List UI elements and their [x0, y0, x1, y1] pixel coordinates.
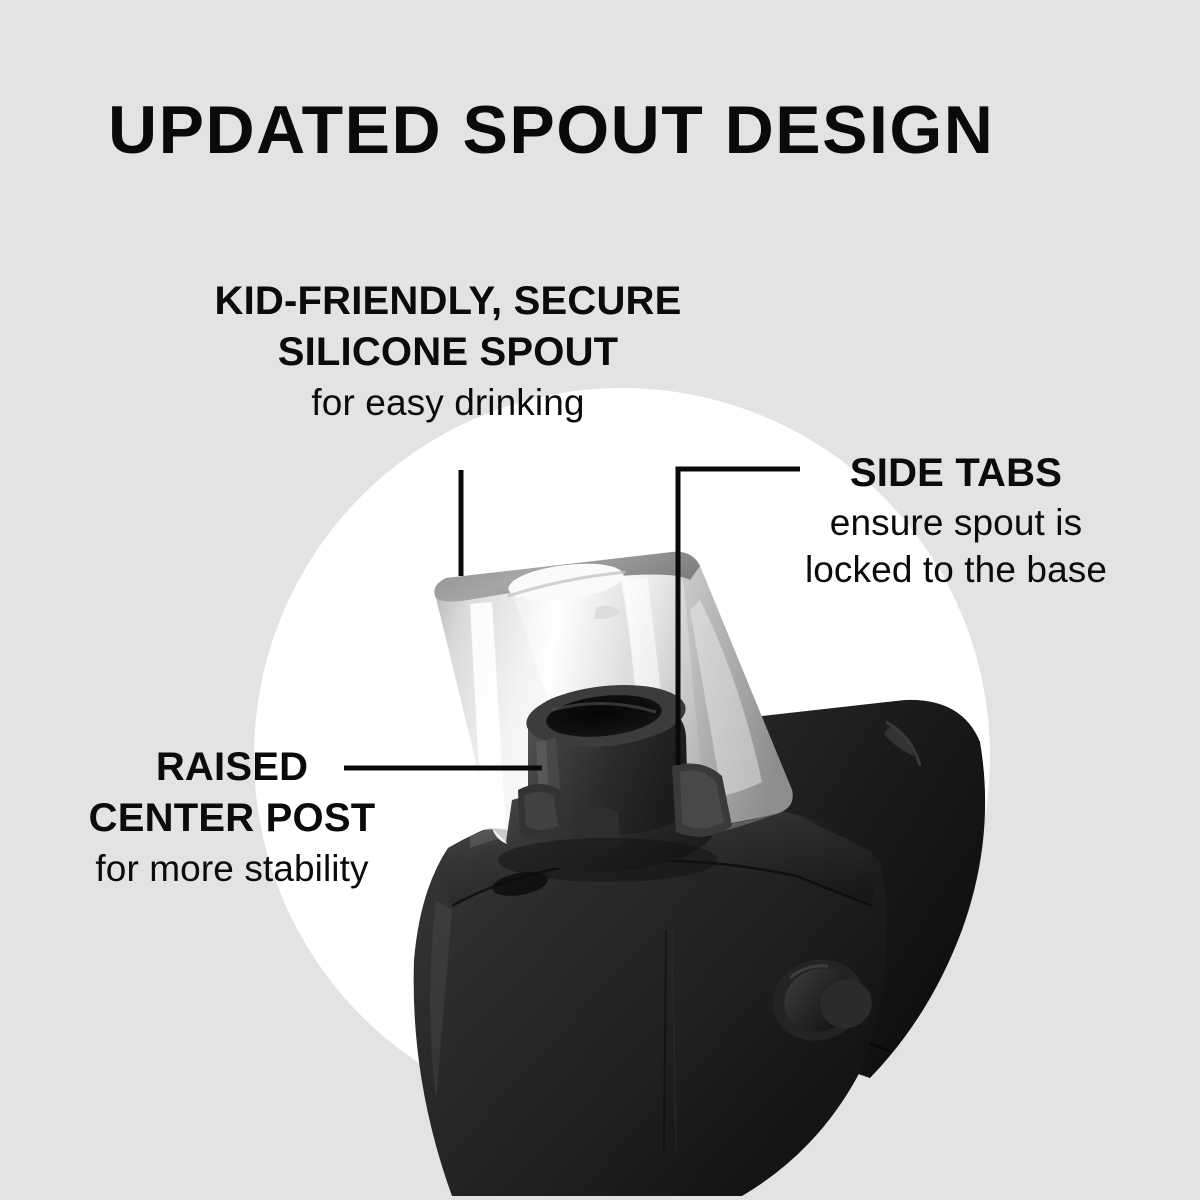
infographic-root: UPDATED SPOUT DESIGN KID-FRIENDLY, SECUR… [0, 0, 1200, 1200]
callout-side-tabs: SIDE TABS ensure spout is locked to the … [756, 448, 1156, 594]
callout-raised-center-post-headline-line1: RAISED [32, 742, 432, 793]
callout-silicone-spout-headline-line1: KID-FRIENDLY, SECURE [142, 276, 754, 327]
product-photo-illustration [0, 0, 1200, 1200]
callout-raised-center-post-headline-line2: CENTER POST [32, 793, 432, 844]
product-photo-stage [0, 0, 1200, 1200]
callout-raised-center-post: RAISED CENTER POST for more stability [32, 742, 432, 893]
callout-side-tabs-subline-line1: ensure spout is [756, 500, 1156, 546]
page-title: UPDATED SPOUT DESIGN [108, 96, 994, 164]
callout-silicone-spout: KID-FRIENDLY, SECURE SILICONE SPOUT for … [142, 276, 762, 427]
callout-silicone-spout-headline-line2: SILICONE SPOUT [142, 327, 754, 378]
callout-side-tabs-subline-line2: locked to the base [756, 547, 1156, 593]
callout-side-tabs-headline: SIDE TABS [756, 448, 1156, 499]
callout-silicone-spout-subline: for easy drinking [142, 380, 754, 426]
callout-raised-center-post-subline: for more stability [32, 846, 432, 892]
